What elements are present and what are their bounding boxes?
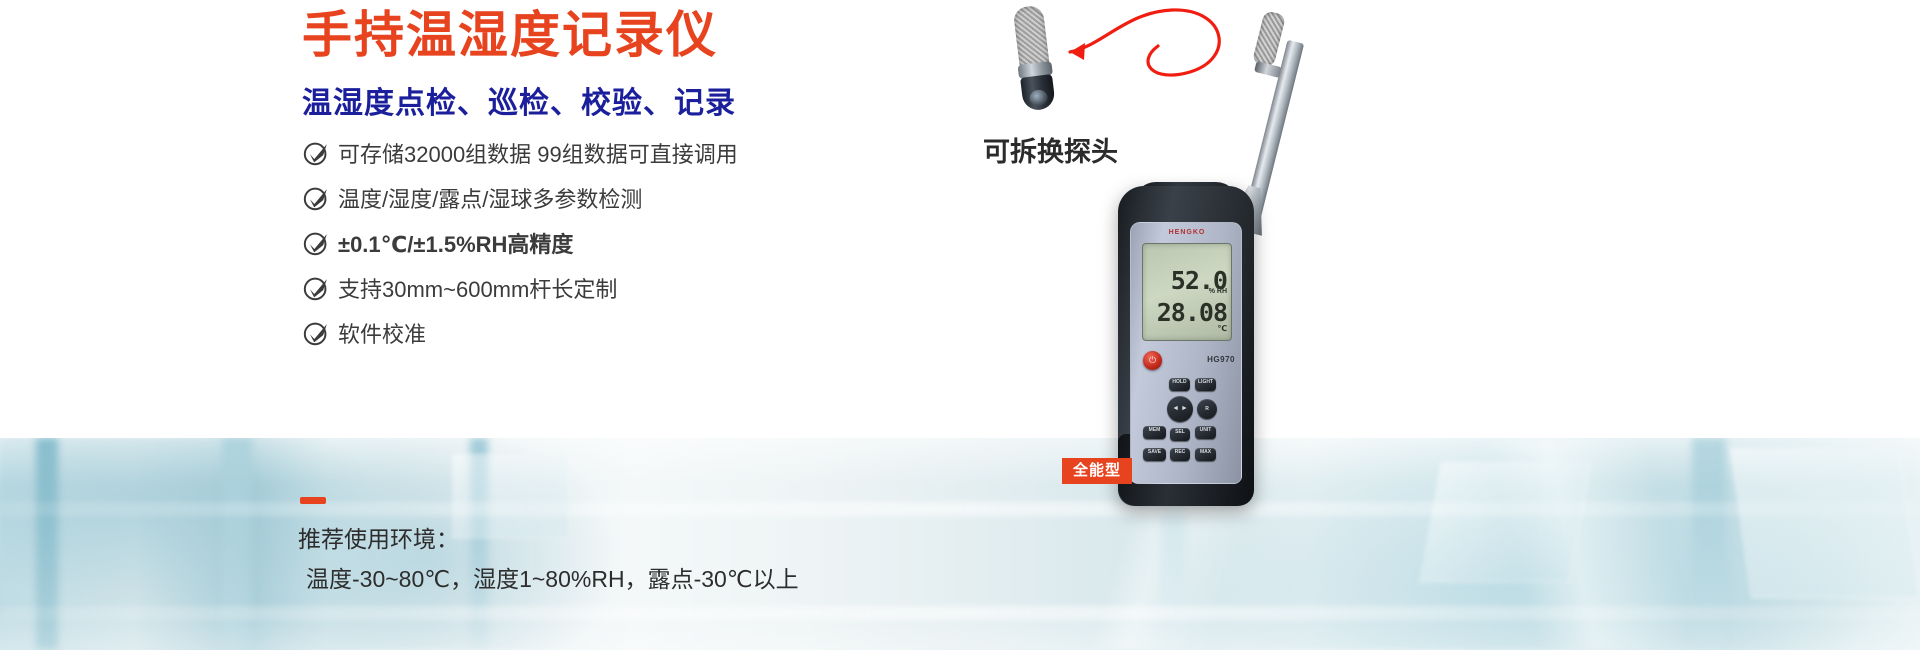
device-front-panel: HENGKO 52.0 % RH 28.08 ℃ ⏻ HG970 HOLD LI…: [1130, 222, 1242, 484]
bg-shelf: [0, 606, 1920, 620]
list-item: 支持30mm~600mm杆长定制: [302, 265, 738, 310]
circle-check-icon: [302, 183, 338, 213]
temperature-reading: 28.08: [1157, 298, 1227, 327]
select-button[interactable]: SEL: [1170, 428, 1190, 441]
status-badge: 全能型: [1062, 458, 1132, 484]
unit-button[interactable]: UNIT: [1195, 426, 1216, 439]
power-icon[interactable]: ⏻: [1143, 351, 1162, 370]
page-title: 手持温湿度记录仪: [302, 8, 718, 63]
list-item-label: 可存储32000组数据 99组数据可直接调用: [338, 137, 738, 169]
list-item-label: 软件校准: [338, 317, 426, 349]
temperature-unit: ℃: [1217, 324, 1227, 333]
humidity-unit: % RH: [1209, 288, 1227, 295]
record-button[interactable]: REC: [1170, 448, 1190, 461]
divider-dash: [300, 497, 326, 504]
circle-check-icon: [302, 318, 338, 348]
model-label: HG970: [1207, 355, 1235, 364]
max-button[interactable]: MAX: [1195, 448, 1216, 461]
list-item-label: 温度/湿度/露点/湿球多参数检测: [338, 182, 642, 214]
bg-glass-panel: [452, 454, 570, 538]
feature-list: 可存储32000组数据 99组数据可直接调用 温度/湿度/露点/湿球多参数检测 …: [302, 130, 738, 355]
enter-button[interactable]: R: [1197, 399, 1217, 419]
lcd-display: 52.0 % RH 28.08 ℃: [1142, 243, 1232, 341]
circle-check-icon: [302, 228, 338, 258]
bg-shelf: [0, 502, 1920, 516]
list-item-label: 支持30mm~600mm杆长定制: [338, 272, 617, 304]
handheld-meter-image: HENGKO 52.0 % RH 28.08 ℃ ⏻ HG970 HOLD LI…: [1090, 36, 1290, 506]
environment-label: 推荐使用环境：: [298, 520, 459, 554]
device-keypad: HOLD LIGHT ◄ ► R MEM SEL UNIT SAVE REC M…: [1137, 378, 1237, 480]
list-item: 可存储32000组数据 99组数据可直接调用: [302, 130, 738, 175]
list-item: 温度/湿度/露点/湿球多参数检测: [302, 175, 738, 220]
brand-logo: HENGKO: [1131, 229, 1243, 236]
list-item: ±0.1℃/±1.5%RH高精度: [302, 220, 738, 265]
bg-glass-panel: [1419, 462, 1590, 582]
light-button[interactable]: LIGHT: [1195, 378, 1216, 391]
lab-environment-background: [0, 438, 1920, 650]
environment-value: 温度-30~80℃，湿度1~80%RH，露点-30℃以上: [306, 560, 799, 594]
navigation-button[interactable]: ◄ ►: [1167, 396, 1193, 422]
list-item: 软件校准: [302, 310, 738, 355]
bg-glass-panel: [1729, 448, 1920, 598]
hold-button[interactable]: HOLD: [1169, 378, 1190, 391]
product-banner: 手持温湿度记录仪 温湿度点检、巡检、校验、记录 可存储32000组数据 99组数…: [0, 0, 1920, 650]
save-button[interactable]: SAVE: [1143, 448, 1166, 461]
circle-check-icon: [302, 138, 338, 168]
list-item-label: ±0.1℃/±1.5%RH高精度: [338, 227, 573, 259]
circle-check-icon: [302, 273, 338, 303]
mem-button[interactable]: MEM: [1143, 426, 1166, 439]
page-subtitle: 温湿度点检、巡检、校验、记录: [302, 78, 736, 122]
